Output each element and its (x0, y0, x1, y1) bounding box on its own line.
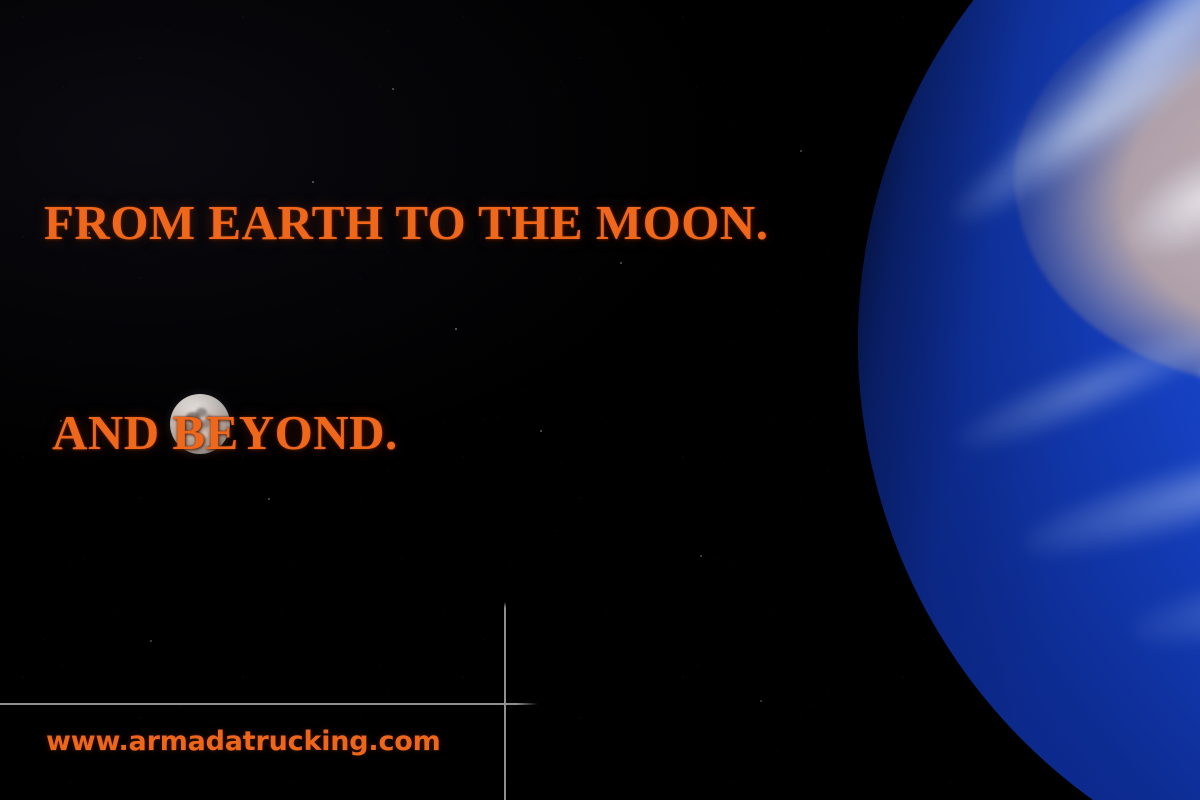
poster-canvas: FROM EARTH TO THE MOON. AND BEYOND. www.… (0, 0, 1200, 800)
vertical-rule (504, 602, 506, 800)
headline-line-1: FROM EARTH TO THE MOON. (44, 188, 944, 258)
headline-line-2: AND BEYOND. (44, 398, 944, 468)
horizontal-rule (0, 703, 538, 705)
website-url[interactable]: www.armadatrucking.com (46, 726, 441, 757)
star (150, 640, 152, 642)
star (760, 700, 762, 702)
headline: FROM EARTH TO THE MOON. AND BEYOND. (44, 48, 944, 608)
